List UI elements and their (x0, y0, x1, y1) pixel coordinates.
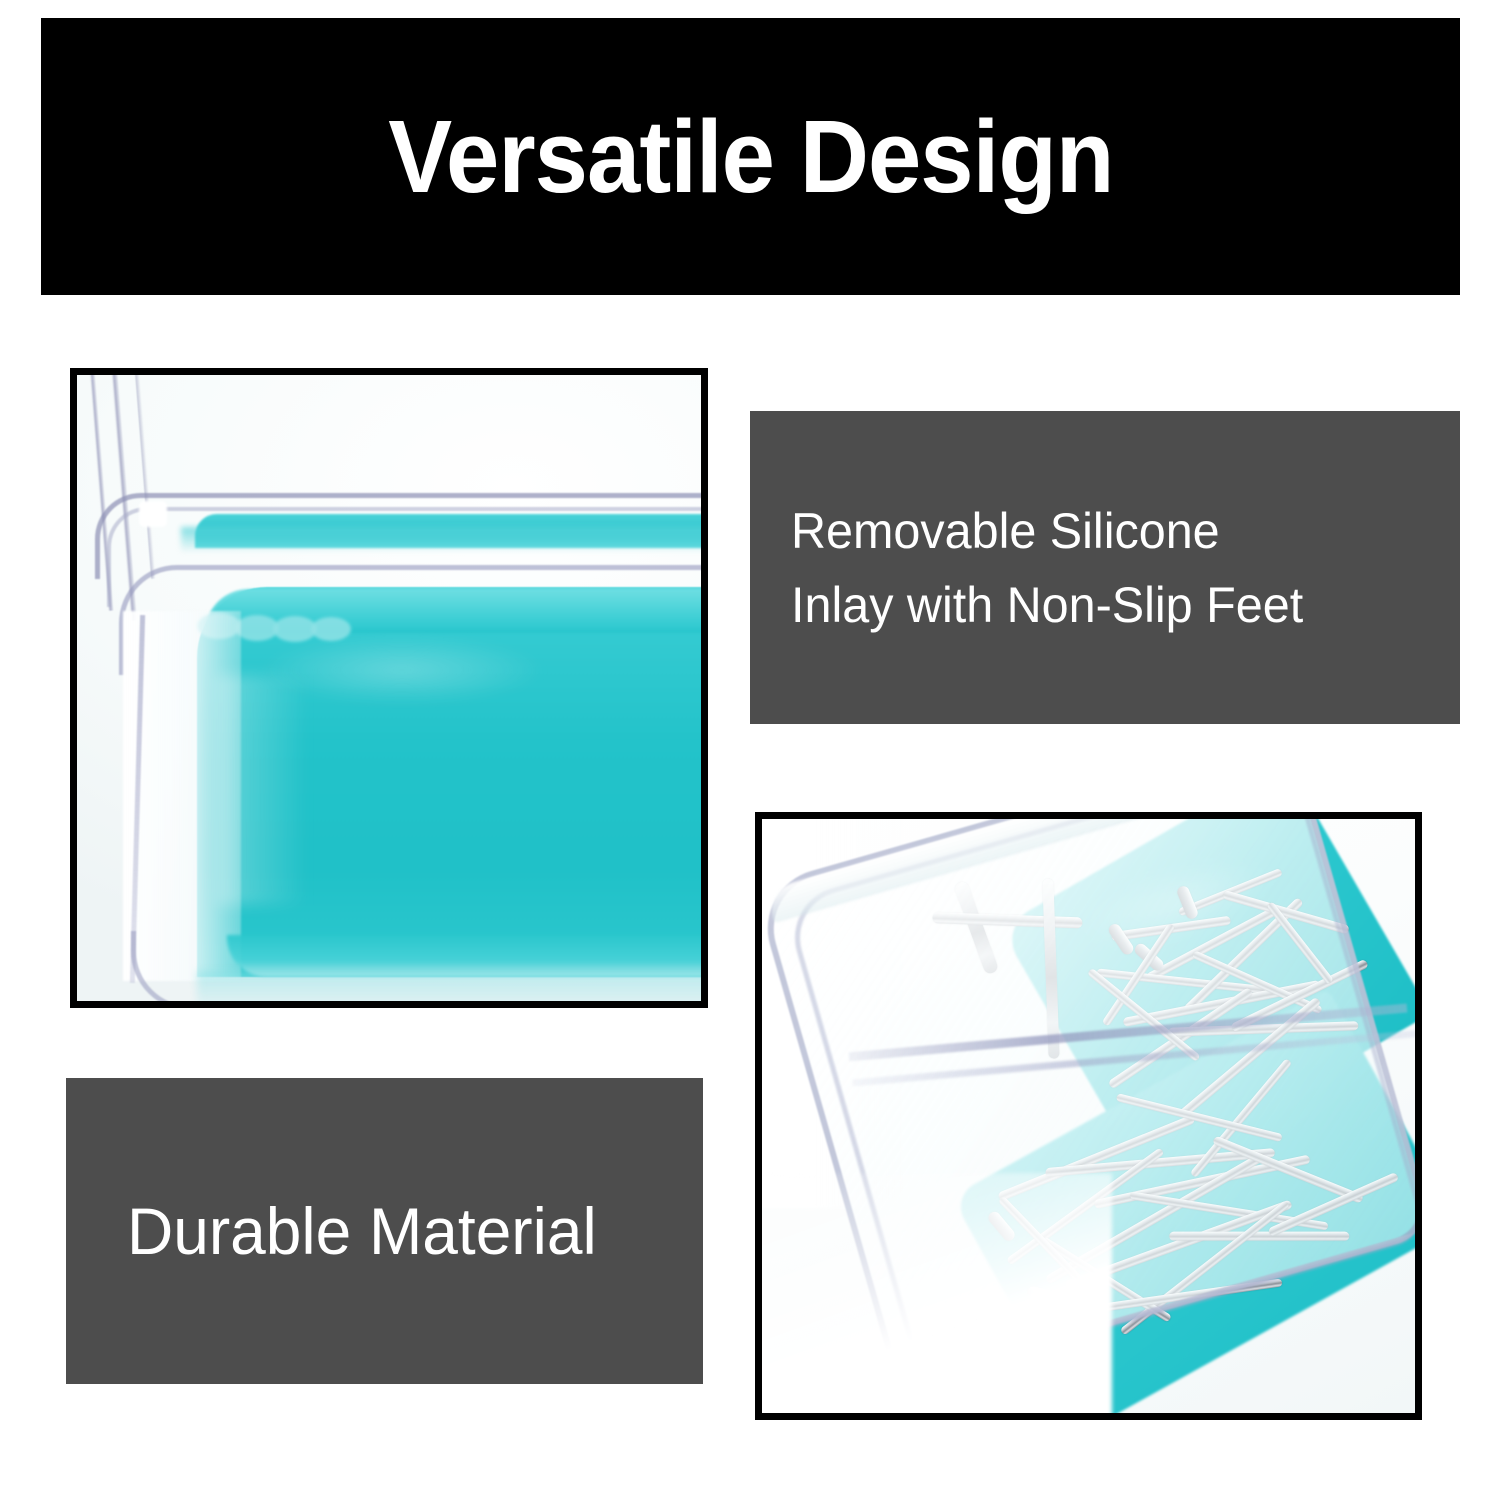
photo-pins-bin (755, 812, 1422, 1420)
photo-inlay-closeup-image (77, 375, 701, 1001)
title-banner: Versatile Design (41, 18, 1460, 295)
page-title: Versatile Design (388, 105, 1113, 208)
caption-removable-silicone: Removable Silicone Inlay with Non-Slip F… (750, 411, 1460, 724)
infographic-page: Versatile Design (0, 0, 1500, 1500)
caption-removable-silicone-line-1: Removable Silicone (791, 494, 1440, 568)
photo-inlay-closeup (70, 368, 708, 1008)
caption-durable-material-line-1: Durable Material (127, 1198, 686, 1264)
caption-durable-material: Durable Material (66, 1078, 703, 1384)
caption-removable-silicone-line-2: Inlay with Non-Slip Feet (791, 568, 1440, 642)
photo-pins-bin-image (762, 819, 1415, 1413)
